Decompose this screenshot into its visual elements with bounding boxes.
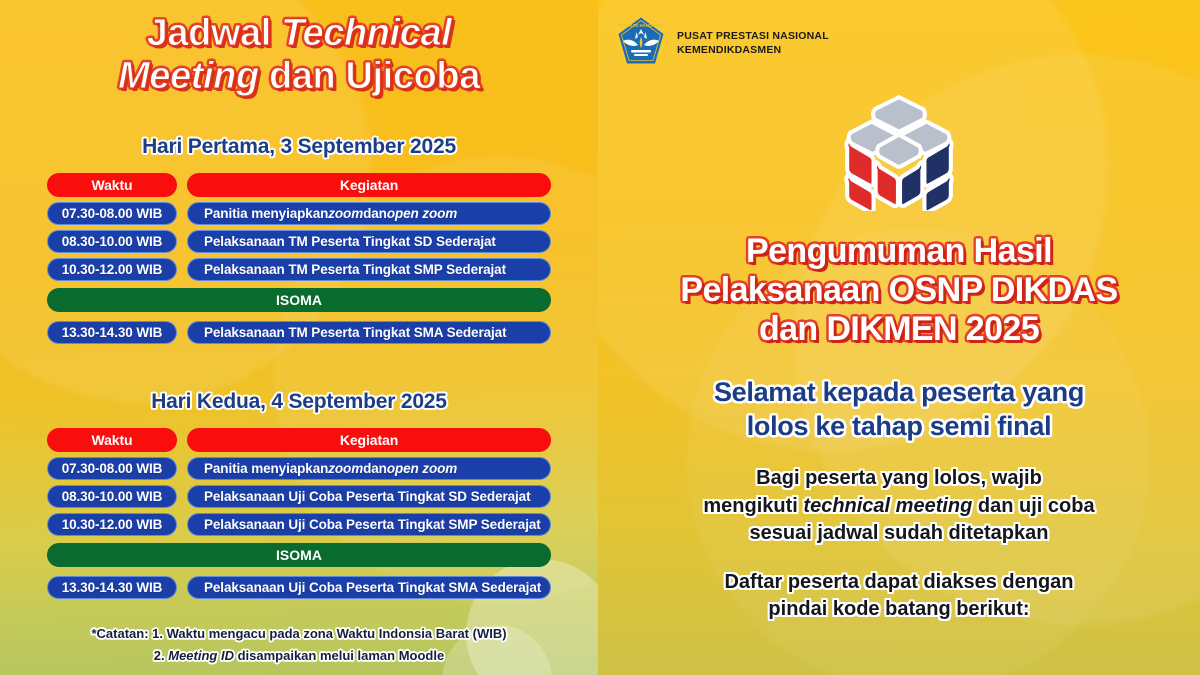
row-time: 08.30-10.00 WIB [47, 230, 177, 253]
table-row: 07.30-08.00 WIB Panitia menyiapkan zoom … [47, 202, 551, 225]
activity-text: Panitia menyiapkan [204, 206, 328, 221]
para2-line-1: Daftar peserta dapat diakses dengan [598, 569, 1200, 596]
row-time: 07.30-08.00 WIB [47, 457, 177, 480]
activity-italic-1: zoom [328, 461, 363, 476]
title-part-1: Jadwal [147, 12, 282, 54]
subtitle-line-2: lolos ke tahap semi final [598, 409, 1200, 443]
footnote-line-1: *Catatan: 1. Waktu mengacu pada zona Wak… [28, 623, 570, 644]
column-header-waktu: Waktu [47, 428, 177, 452]
table-row: 08.30-10.00 WIB Pelaksanaan Uji Coba Pes… [47, 485, 551, 508]
table-header-row: Waktu Kegiatan [47, 428, 551, 452]
para1-text-a: Bagi peserta yang lolos, [756, 467, 992, 489]
right-title-line-2: Pelaksanaan OSNP DIKDAS [598, 271, 1200, 310]
right-paragraph-1: Bagi peserta yang lolos, wajib mengikuti… [598, 465, 1200, 547]
row-time: 08.30-10.00 WIB [47, 485, 177, 508]
right-subtitle: Selamat kepada peserta yang lolos ke tah… [598, 375, 1200, 443]
break-row-isoma: ISOMA [47, 288, 551, 312]
row-time: 13.30-14.30 WIB [47, 321, 177, 344]
rubiks-cube-icon [838, 198, 960, 215]
table-row: 07.30-08.00 WIB Panitia menyiapkan zoom … [47, 457, 551, 480]
para1-bold: wajib [992, 467, 1042, 489]
brand-line-2: KEMENDIKDASMEN [677, 44, 829, 58]
row-time: 10.30-12.00 WIB [47, 258, 177, 281]
left-schedule-panel: Jadwal Technical Meeting dan Ujicoba Har… [0, 0, 598, 675]
footnote-line-2: 2. Meeting ID disampaikan melui laman Mo… [28, 645, 570, 666]
brand-text: PUSAT PRESTASI NASIONAL KEMENDIKDASMEN [677, 30, 829, 58]
para1-line-1: Bagi peserta yang lolos, wajib [598, 465, 1200, 492]
column-header-waktu: Waktu [47, 173, 177, 197]
brand-line-1: PUSAT PRESTASI NASIONAL [677, 30, 829, 44]
table-row: 13.30-14.30 WIB Pelaksanaan Uji Coba Pes… [47, 576, 551, 599]
title-part-2: Technical [281, 12, 451, 54]
para1-line-2: mengikuti technical meeting dan uji coba [598, 493, 1200, 520]
tut-wuri-handayani-logo-icon: TUT WURI HANDAYANI [616, 16, 666, 71]
brand-header: TUT WURI HANDAYANI PUSAT PRESTASI NASION… [598, 0, 1200, 71]
activity-italic-2: open zoom [387, 461, 457, 476]
right-page-title: Pengumuman Hasil Pelaksanaan OSNP DIKDAS… [598, 232, 1200, 349]
subtitle-line-1: Selamat kepada peserta yang [598, 375, 1200, 409]
title-part-4: dan Ujicoba [259, 55, 480, 97]
row-activity: Panitia menyiapkan zoom dan open zoom [187, 202, 551, 225]
row-time: 13.30-14.30 WIB [47, 576, 177, 599]
svg-text:TUT WURI HANDAYANI: TUT WURI HANDAYANI [618, 23, 665, 28]
para1-italic: technical meeting [803, 495, 972, 517]
schedule-table-1: Waktu Kegiatan 07.30-08.00 WIB Panitia m… [28, 173, 570, 344]
activity-italic-1: zoom [328, 206, 363, 221]
row-activity: Pelaksanaan Uji Coba Peserta Tingkat SMA… [187, 576, 551, 599]
row-activity: Pelaksanaan TM Peserta Tingkat SD Sedera… [187, 230, 551, 253]
right-paragraph-2: Daftar peserta dapat diakses dengan pind… [598, 569, 1200, 623]
right-title-line-1: Pengumuman Hasil [598, 232, 1200, 271]
row-activity: Pelaksanaan TM Peserta Tingkat SMA Seder… [187, 321, 551, 344]
right-announcement-panel: TUT WURI HANDAYANI PUSAT PRESTASI NASION… [598, 0, 1200, 675]
break-row-isoma: ISOMA [47, 543, 551, 567]
activity-text: Panitia menyiapkan [204, 461, 328, 476]
activity-mid: dan [363, 206, 387, 221]
row-activity: Panitia menyiapkan zoom dan open zoom [187, 457, 551, 480]
table-row: 08.30-10.00 WIB Pelaksanaan TM Peserta T… [47, 230, 551, 253]
para2-line-2: pindai kode batang berikut: [598, 596, 1200, 623]
footnote-rest: disampaikan melui laman Moodle [234, 648, 444, 663]
para1-line-3: sesuai jadwal sudah ditetapkan [598, 520, 1200, 547]
table-row: 13.30-14.30 WIB Pelaksanaan TM Peserta T… [47, 321, 551, 344]
title-part-3: Meeting [118, 55, 259, 97]
table-row: 10.30-12.00 WIB Pelaksanaan TM Peserta T… [47, 258, 551, 281]
column-header-kegiatan: Kegiatan [187, 173, 551, 197]
row-activity: Pelaksanaan TM Peserta Tingkat SMP Seder… [187, 258, 551, 281]
row-activity: Pelaksanaan Uji Coba Peserta Tingkat SMP… [187, 513, 551, 536]
right-title-line-3: dan DIKMEN 2025 [598, 310, 1200, 349]
day-heading-1: Hari Pertama, 3 September 2025 [28, 135, 570, 159]
cube-logo-wrapper [598, 89, 1200, 216]
footnote: *Catatan: 1. Waktu mengacu pada zona Wak… [28, 623, 570, 666]
footnote-num: 2. [154, 648, 168, 663]
day-heading-2: Hari Kedua, 4 September 2025 [28, 390, 570, 414]
column-header-kegiatan: Kegiatan [187, 428, 551, 452]
schedule-table-2: Waktu Kegiatan 07.30-08.00 WIB Panitia m… [28, 428, 570, 599]
poster-container: Jadwal Technical Meeting dan Ujicoba Har… [0, 0, 1200, 675]
row-time: 07.30-08.00 WIB [47, 202, 177, 225]
row-time: 10.30-12.00 WIB [47, 513, 177, 536]
footnote-italic: Meeting ID [168, 648, 234, 663]
para1-text-d: dan uji coba [972, 495, 1094, 517]
activity-italic-2: open zoom [387, 206, 457, 221]
table-header-row: Waktu Kegiatan [47, 173, 551, 197]
activity-mid: dan [363, 461, 387, 476]
para1-text-c: mengikuti [703, 495, 803, 517]
left-page-title: Jadwal Technical Meeting dan Ujicoba [28, 12, 570, 97]
row-activity: Pelaksanaan Uji Coba Peserta Tingkat SD … [187, 485, 551, 508]
table-row: 10.30-12.00 WIB Pelaksanaan Uji Coba Pes… [47, 513, 551, 536]
